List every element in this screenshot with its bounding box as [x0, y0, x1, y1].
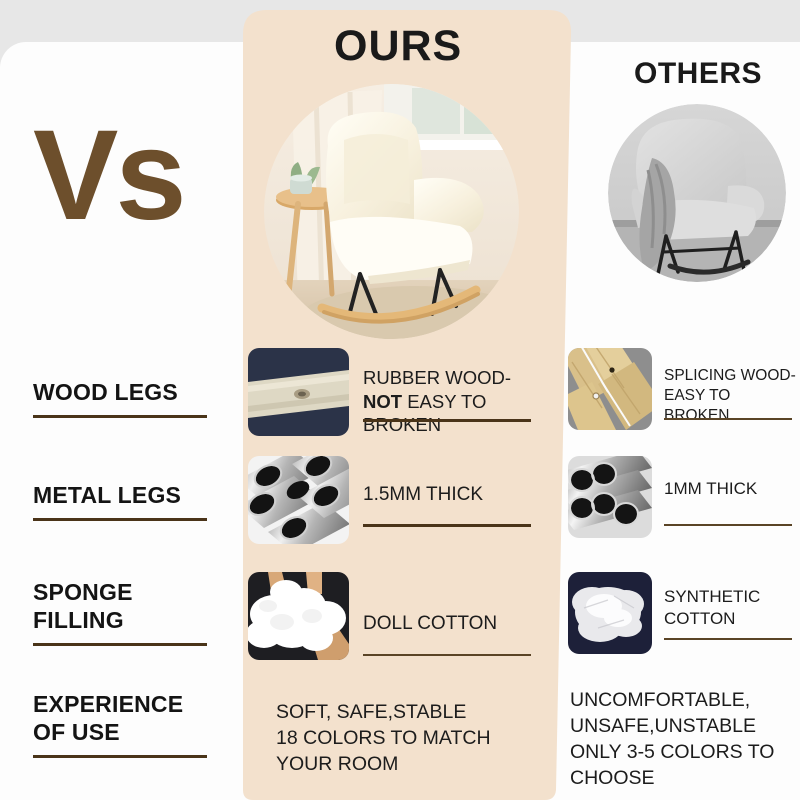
others-metal-thumbnail — [568, 456, 652, 538]
spec-label-metal-legs-rule — [33, 518, 207, 521]
spec-label-experience-line1: EXPERIENCE — [33, 690, 211, 718]
spec-label-experience-of-use: EXPERIENCE OF USE — [33, 690, 211, 758]
others-wood-rule — [664, 418, 792, 420]
spec-label-sponge-filling: SPONGE FILLING — [33, 578, 211, 646]
ours-sponge-text: DOLL COTTON — [363, 612, 553, 636]
ours-wood-line1: RUBBER WOOD- — [363, 366, 559, 390]
spec-label-sponge-filling-line2: FILLING — [33, 606, 211, 634]
spec-label-sponge-filling-rule — [33, 643, 207, 646]
others-sponge-thumbnail — [568, 572, 652, 654]
ours-wood-line2: NOT EASY TO BROKEN — [363, 390, 559, 437]
others-wood-thumbnail — [568, 348, 652, 430]
ours-sponge-thumbnail — [248, 572, 349, 660]
spec-label-wood-legs: WOOD LEGS — [33, 378, 211, 418]
ours-wood-rule — [363, 419, 531, 422]
ours-sponge-rule — [363, 654, 531, 656]
others-experience-line2: UNSAFE,UNSTABLE — [570, 714, 800, 740]
others-wood-line1: SPLICING WOOD- — [664, 366, 800, 386]
others-sponge-line1: SYNTHETIC — [664, 586, 800, 608]
others-metal-rule — [664, 524, 792, 526]
ours-sponge-line1: DOLL COTTON — [363, 612, 553, 636]
ours-experience-line1: SOFT, SAFE,STABLE — [276, 700, 526, 726]
ours-hero-image — [264, 84, 519, 339]
comparison-infographic: OURS OTHERS Vs — [0, 0, 800, 800]
others-wood-text: SPLICING WOOD- EASY TO BROKEN — [664, 366, 800, 425]
others-sponge-line2: COTTON — [664, 608, 800, 630]
spec-label-metal-legs: METAL LEGS — [33, 481, 211, 521]
ours-wood-text: RUBBER WOOD- NOT EASY TO BROKEN — [363, 366, 559, 437]
spec-label-metal-legs-text: METAL LEGS — [33, 481, 211, 509]
others-metal-text: 1MM THICK — [664, 478, 800, 500]
others-sponge-rule — [664, 638, 792, 640]
spec-label-wood-legs-text: WOOD LEGS — [33, 378, 211, 406]
ours-experience-line3: YOUR ROOM — [276, 752, 526, 778]
others-sponge-text: SYNTHETIC COTTON — [664, 586, 800, 630]
ours-wood-not-emphasis: NOT — [363, 391, 402, 412]
others-header: OTHERS — [634, 57, 762, 91]
ours-metal-text: 1.5MM THICK — [363, 483, 553, 507]
others-hero-image — [608, 104, 786, 282]
spec-label-wood-legs-rule — [33, 415, 207, 418]
others-experience-line1: UNCOMFORTABLE, — [570, 688, 800, 714]
ours-experience-line2: 18 COLORS TO MATCH — [276, 726, 526, 752]
ours-metal-line1: 1.5MM THICK — [363, 483, 553, 507]
ours-header: OURS — [334, 22, 462, 71]
ours-wood-thumbnail — [248, 348, 349, 436]
ours-metal-thumbnail — [248, 456, 349, 544]
spec-label-sponge-filling-line1: SPONGE — [33, 578, 211, 606]
spec-label-experience-line2: OF USE — [33, 718, 211, 746]
others-experience-summary: UNCOMFORTABLE, UNSAFE,UNSTABLE ONLY 3-5 … — [570, 688, 800, 792]
others-experience-line4: CHOOSE — [570, 766, 800, 792]
vs-mark: Vs — [33, 112, 184, 240]
others-experience-line3: ONLY 3-5 COLORS TO — [570, 740, 800, 766]
ours-experience-summary: SOFT, SAFE,STABLE 18 COLORS TO MATCH YOU… — [276, 700, 526, 778]
spec-label-experience-rule — [33, 755, 207, 758]
others-metal-line1: 1MM THICK — [664, 478, 800, 500]
ours-metal-rule — [363, 524, 531, 527]
